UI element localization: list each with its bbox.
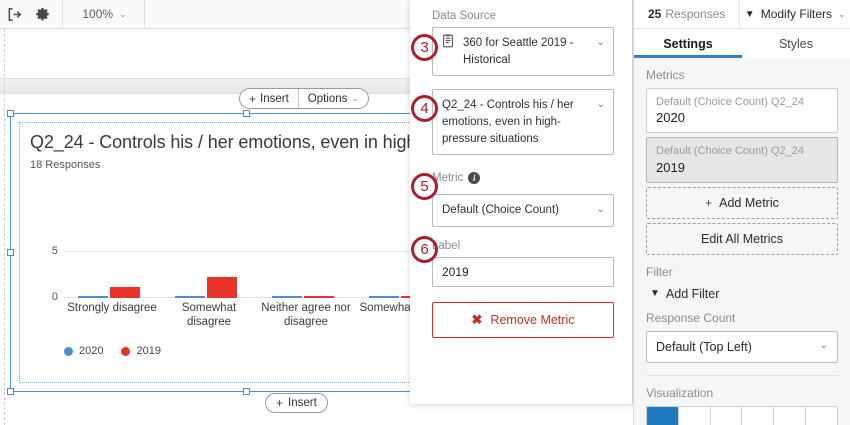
visualization-type-row <box>646 406 838 425</box>
response-count-label: Responses <box>665 7 725 21</box>
viz-type-more[interactable] <box>806 406 838 425</box>
metric-card-caption: Default (Choice Count) Q2_24 <box>656 95 828 109</box>
add-metric-label: Add Metric <box>719 196 779 210</box>
bar-2020[interactable] <box>175 296 205 298</box>
chevron-down-icon: ⌄ <box>597 98 605 113</box>
plus-icon: + <box>705 197 712 209</box>
viz-type-gauge[interactable] <box>774 406 806 425</box>
chevron-down-icon: ⌄ <box>351 93 359 104</box>
chevron-down-icon: ⌄ <box>119 9 127 20</box>
legend-item[interactable]: 2020 <box>64 345 103 357</box>
options-button[interactable]: Options ⌄ <box>299 89 368 108</box>
chevron-down-icon: ⌄ <box>597 203 605 218</box>
page-left-edge <box>4 29 5 425</box>
legend-label: 2020 <box>79 345 103 357</box>
edit-all-metrics-label: Edit All Metrics <box>701 232 783 246</box>
visualization-section-label: Visualization <box>646 386 838 400</box>
modify-filters-button[interactable]: ▼ Modify Filters ⌄ <box>740 7 850 21</box>
insert-button-label: Insert <box>260 93 289 105</box>
plus-icon: + <box>249 93 256 105</box>
metric-card-value: 2019 <box>656 160 828 175</box>
response-count-dropdown[interactable]: Default (Top Left) ⌄ <box>646 331 838 363</box>
x-icon: ✖ <box>472 312 483 328</box>
bar-2019[interactable] <box>304 296 334 298</box>
bar-group <box>258 245 346 298</box>
gear-icon[interactable] <box>28 0 56 28</box>
add-metric-button[interactable]: + Add Metric <box>646 187 838 219</box>
legend-label: 2019 <box>136 345 160 357</box>
question-dropdown[interactable]: Q2_24 - Controls his / her emotions, eve… <box>432 89 614 155</box>
resize-handle-middle-left[interactable] <box>7 249 14 256</box>
viz-type-table[interactable] <box>742 406 774 425</box>
resize-handle-bottom-left[interactable] <box>7 388 14 395</box>
add-filter-label: Add Filter <box>666 287 720 301</box>
label-input[interactable]: 2019 <box>432 257 614 287</box>
label-input-value: 2019 <box>442 265 469 279</box>
funnel-icon: ▼ <box>650 288 660 299</box>
sidebar-body: Metrics Default (Choice Count) Q2_24 202… <box>634 58 850 425</box>
annotation-marker-6: 6 <box>411 236 438 263</box>
edit-all-metrics-button[interactable]: Edit All Metrics <box>646 223 838 255</box>
bar-group <box>161 245 249 298</box>
remove-metric-label: Remove Metric <box>490 313 574 327</box>
funnel-icon: ▼ <box>745 9 755 20</box>
metric-dropdown[interactable]: Default (Choice Count) ⌄ <box>432 194 614 227</box>
add-filter-button[interactable]: ▼ Add Filter <box>646 285 838 301</box>
data-source-dropdown[interactable]: 360 for Seattle 2019 - Historical ⌄ <box>432 27 614 76</box>
bar-2020[interactable] <box>78 296 108 298</box>
sidebar-tabs: Settings Styles <box>634 29 850 58</box>
chart-title: Q2_24 - Controls his / her emotions, eve… <box>30 131 464 154</box>
tab-styles[interactable]: Styles <box>742 29 850 58</box>
x-axis-label: Strongly disagree <box>64 301 160 315</box>
info-icon[interactable]: i <box>468 172 480 184</box>
chevron-down-icon: ⌄ <box>597 36 605 51</box>
resize-handle-top-middle[interactable] <box>243 110 250 117</box>
legend-dot-icon <box>64 347 73 356</box>
annotation-marker-4: 4 <box>411 95 438 122</box>
zoom-level-value: 100% <box>82 7 113 21</box>
response-count-section-label: Response Count <box>646 311 838 325</box>
remove-metric-button[interactable]: ✖ Remove Metric <box>432 302 614 338</box>
resize-handle-bottom-middle[interactable] <box>243 388 250 395</box>
metric-value: Default (Choice Count) <box>442 204 559 216</box>
data-source-value: 360 for Seattle 2019 - Historical <box>463 37 574 66</box>
document-icon <box>442 34 454 48</box>
chart-subtitle: 18 Responses <box>30 159 464 171</box>
bar-2019[interactable] <box>207 277 237 298</box>
response-count-number: 25 <box>648 7 661 21</box>
metric-card-caption: Default (Choice Count) Q2_24 <box>656 144 828 158</box>
metric-card-value: 2020 <box>656 110 828 125</box>
annotation-marker-5: 5 <box>411 173 438 200</box>
insert-options-toolbar: + Insert Options ⌄ <box>239 88 369 109</box>
sidebar-topbar: 25 Responses ▼ Modify Filters ⌄ <box>634 0 850 29</box>
toolbar-divider <box>62 0 63 29</box>
response-count-indicator: 25 Responses <box>634 0 740 29</box>
tab-styles-label: Styles <box>779 37 813 51</box>
chevron-down-icon: ⌄ <box>820 340 828 351</box>
options-button-label: Options <box>308 93 348 105</box>
x-axis-label: Somewhat disagree <box>161 301 257 330</box>
question-value: Q2_24 - Controls his / her emotions, eve… <box>442 99 574 144</box>
bar-2019[interactable] <box>110 287 140 298</box>
viz-type-line[interactable] <box>679 406 711 425</box>
x-axis-label: Neither agree nor disagree <box>258 301 354 330</box>
resize-handle-top-left[interactable] <box>7 110 14 117</box>
export-icon[interactable] <box>0 0 28 28</box>
bar-2020[interactable] <box>369 296 399 298</box>
viz-type-pie[interactable] <box>711 406 743 425</box>
data-source-label: Data Source <box>432 10 614 22</box>
annotation-marker-3: 3 <box>411 34 438 61</box>
y-tick-5: 5 <box>42 245 58 257</box>
modify-filters-label: Modify Filters <box>761 7 832 21</box>
sidebar-divider <box>646 375 838 376</box>
tab-settings[interactable]: Settings <box>634 29 742 58</box>
insert-below-label: Insert <box>288 397 317 409</box>
bar-2020[interactable] <box>272 296 302 298</box>
insert-below-button[interactable]: + Insert <box>265 393 328 413</box>
plus-icon: + <box>276 397 283 409</box>
chart-widget: Q2_24 - Controls his / her emotions, eve… <box>19 122 475 383</box>
legend-item[interactable]: 2019 <box>121 345 160 357</box>
filter-section-label: Filter <box>646 265 838 279</box>
bar-group <box>64 245 152 298</box>
metric-card-2019[interactable]: Default (Choice Count) Q2_24 2019 <box>646 137 838 182</box>
zoom-level-dropdown[interactable]: 100% ⌄ <box>65 0 145 29</box>
insert-button[interactable]: + Insert <box>240 89 298 108</box>
response-count-dropdown-value: Default (Top Left) <box>656 340 752 354</box>
metric-label-row: Metric i <box>432 172 480 184</box>
label-field-label: Label <box>432 240 614 252</box>
chart-legend: 20202019 <box>64 345 161 357</box>
metrics-section-label: Metrics <box>646 68 838 82</box>
right-sidebar: 25 Responses ▼ Modify Filters ⌄ Settings… <box>633 0 850 425</box>
chevron-down-icon: ⌄ <box>838 9 846 20</box>
metric-card-2020[interactable]: Default (Choice Count) Q2_24 2020 <box>646 88 838 133</box>
tab-settings-label: Settings <box>663 37 712 51</box>
legend-dot-icon <box>121 347 130 356</box>
metric-editor-popover: Data Source 360 for Seattle 2019 - Histo… <box>410 0 633 404</box>
y-tick-0: 0 <box>42 291 58 303</box>
viz-type-bar[interactable] <box>646 406 679 425</box>
